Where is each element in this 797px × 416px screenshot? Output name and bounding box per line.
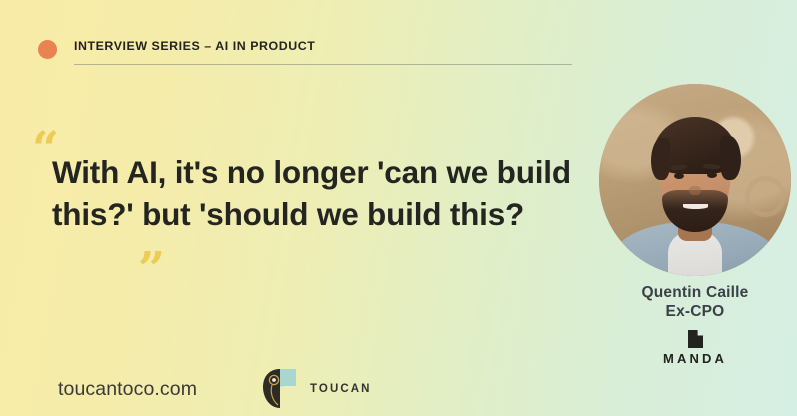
speaker-photo — [599, 84, 791, 276]
speaker-role: Ex-CPO — [560, 302, 797, 321]
quote-card: INTERVIEW SERIES – AI IN PRODUCT “ With … — [0, 0, 797, 416]
photo-nose — [689, 186, 701, 196]
toucan-brand-name: TOUCAN — [310, 383, 372, 395]
header: INTERVIEW SERIES – AI IN PRODUCT — [38, 34, 572, 68]
company-name: MANDA — [663, 351, 727, 366]
bullet-dot-icon — [38, 40, 57, 59]
photo-hair-right — [720, 136, 741, 180]
photo-mouth — [683, 204, 708, 209]
header-divider — [74, 64, 572, 65]
toucan-brand: TOUCAN — [257, 366, 372, 412]
quote-close-icon: ” — [138, 246, 165, 293]
header-title: INTERVIEW SERIES – AI IN PRODUCT — [74, 39, 315, 53]
photo-brow-right — [703, 163, 721, 169]
photo-hair-left — [651, 138, 670, 180]
speaker-avatar — [599, 84, 791, 276]
toucan-bird-icon — [257, 366, 303, 412]
background-ring-decor — [745, 176, 786, 217]
quote-text: With AI, it's no longer 'can we build th… — [52, 152, 580, 236]
manda-page-icon — [687, 329, 704, 349]
speaker-block: Quentin Caille Ex-CPO MANDA — [560, 283, 797, 366]
company-logo: MANDA — [560, 329, 797, 366]
speaker-name: Quentin Caille — [560, 283, 797, 302]
website-url: toucantoco.com — [58, 378, 197, 401]
